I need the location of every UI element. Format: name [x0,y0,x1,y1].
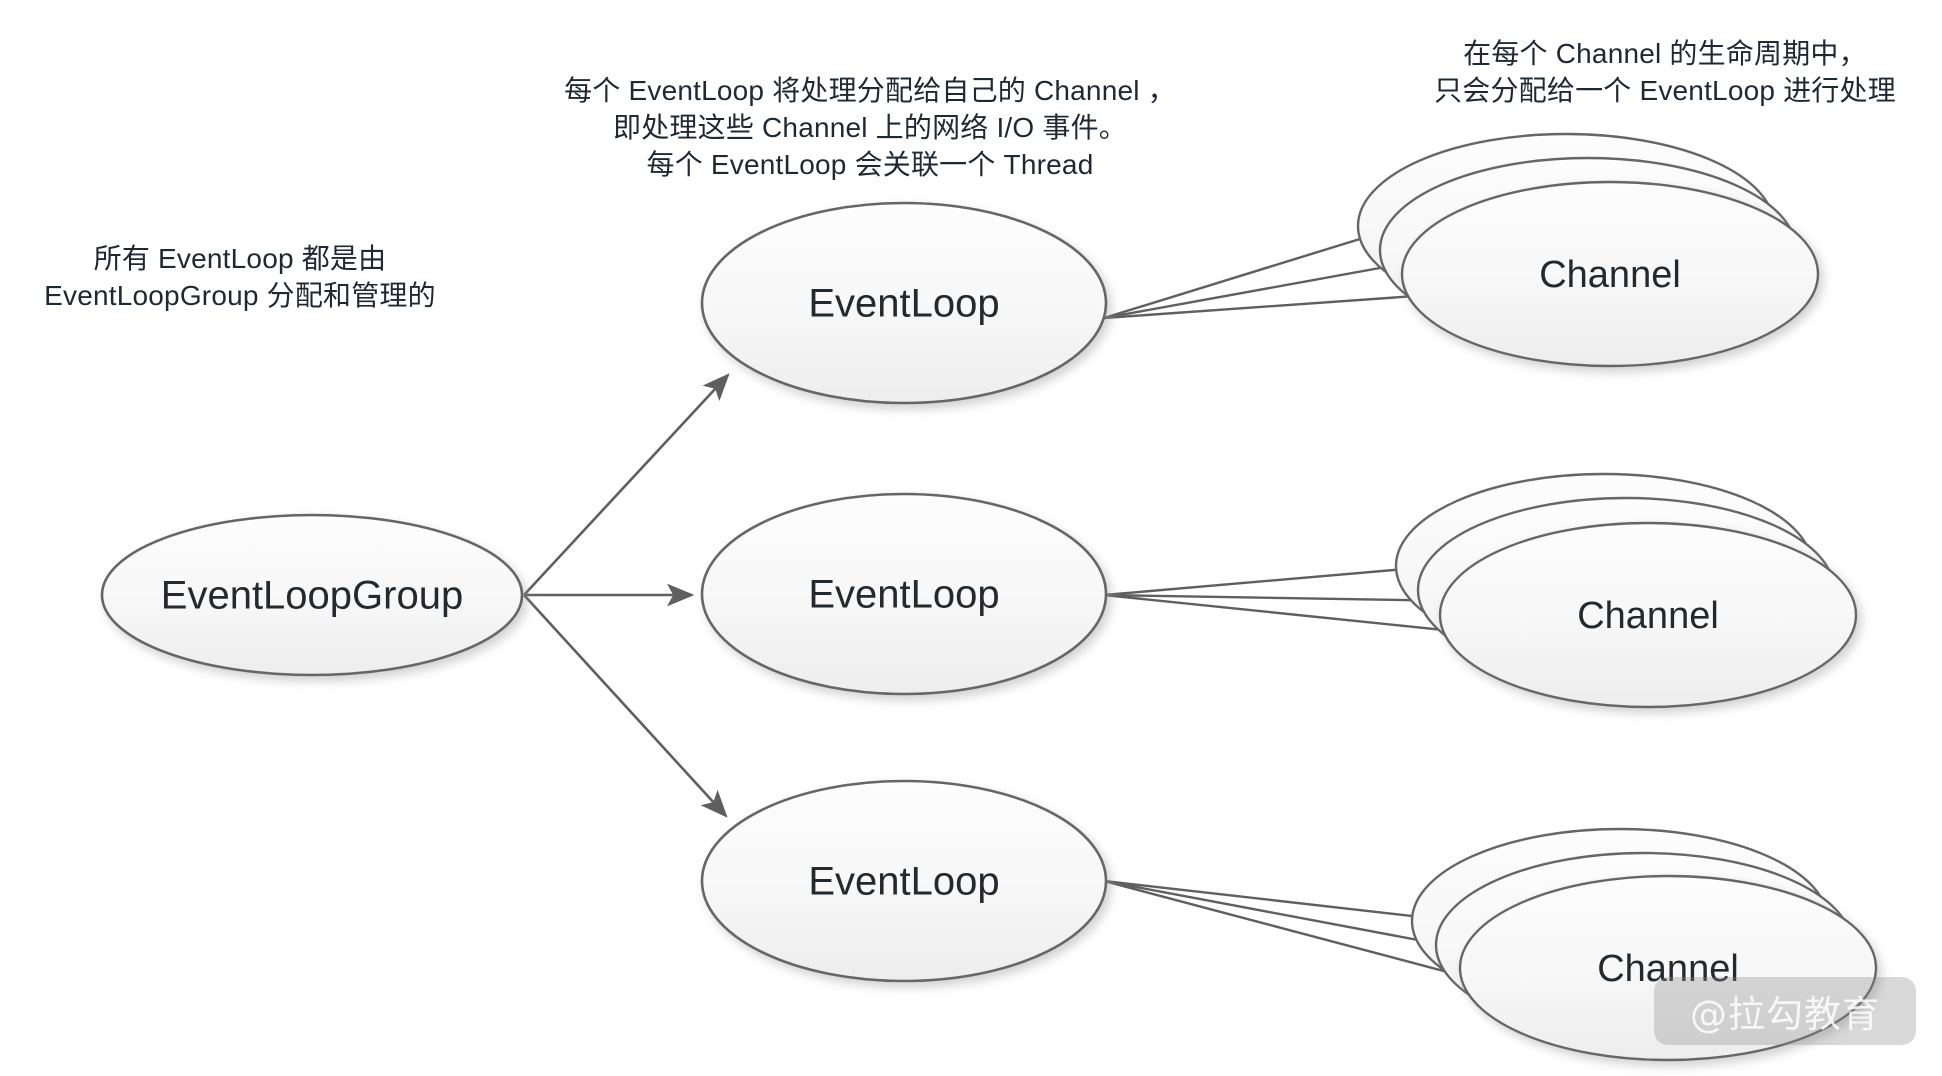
edge-eventloop-2-channel-a [1104,566,1440,595]
node-eventloop-2[interactable]: EventLoop [702,494,1106,694]
node-channel-stack-2[interactable]: Channel [1396,474,1856,707]
edge-eventloop-1-channel-c [1104,294,1444,318]
node-channel-stack-3[interactable]: Channel [1412,829,1876,1060]
channel-stack-1-label: Channel [1539,254,1681,296]
edge-group-to-eventloop-3 [524,595,726,816]
eventloop-2-label: EventLoop [808,573,999,617]
node-eventloopgroup[interactable]: EventLoopGroup [102,515,522,675]
diagram-canvas: EventLoopGroup EventLoop EventLoop Event… [0,0,1942,1076]
edge-group-to-eventloop-1 [524,375,728,595]
edges-group-to-eventloops [524,375,728,816]
node-eventloop-3[interactable]: EventLoop [702,781,1106,981]
annotation-eventloop-assigns-channels: 每个 EventLoop 将处理分配给自己的 Channel ， 即处理这些 C… [430,72,1310,184]
channel-stack-2-label: Channel [1577,595,1719,637]
node-eventloop-1[interactable]: EventLoop [702,203,1106,403]
node-channel-stack-1[interactable]: Channel [1358,134,1818,366]
annotation-channel-lifecycle-single-eventloop: 在每个 Channel 的生命周期中， 只会分配给一个 EventLoop 进行… [1415,35,1915,109]
eventloopgroup-label: EventLoopGroup [161,574,463,618]
channel-stack-3-label: Channel [1597,948,1739,990]
annotation-all-eventloops-managed-by-group: 所有 EventLoop 都是由 EventLoopGroup 分配和管理的 [0,240,480,314]
eventloop-3-label: EventLoop [808,860,999,904]
eventloop-1-label: EventLoop [808,282,999,326]
